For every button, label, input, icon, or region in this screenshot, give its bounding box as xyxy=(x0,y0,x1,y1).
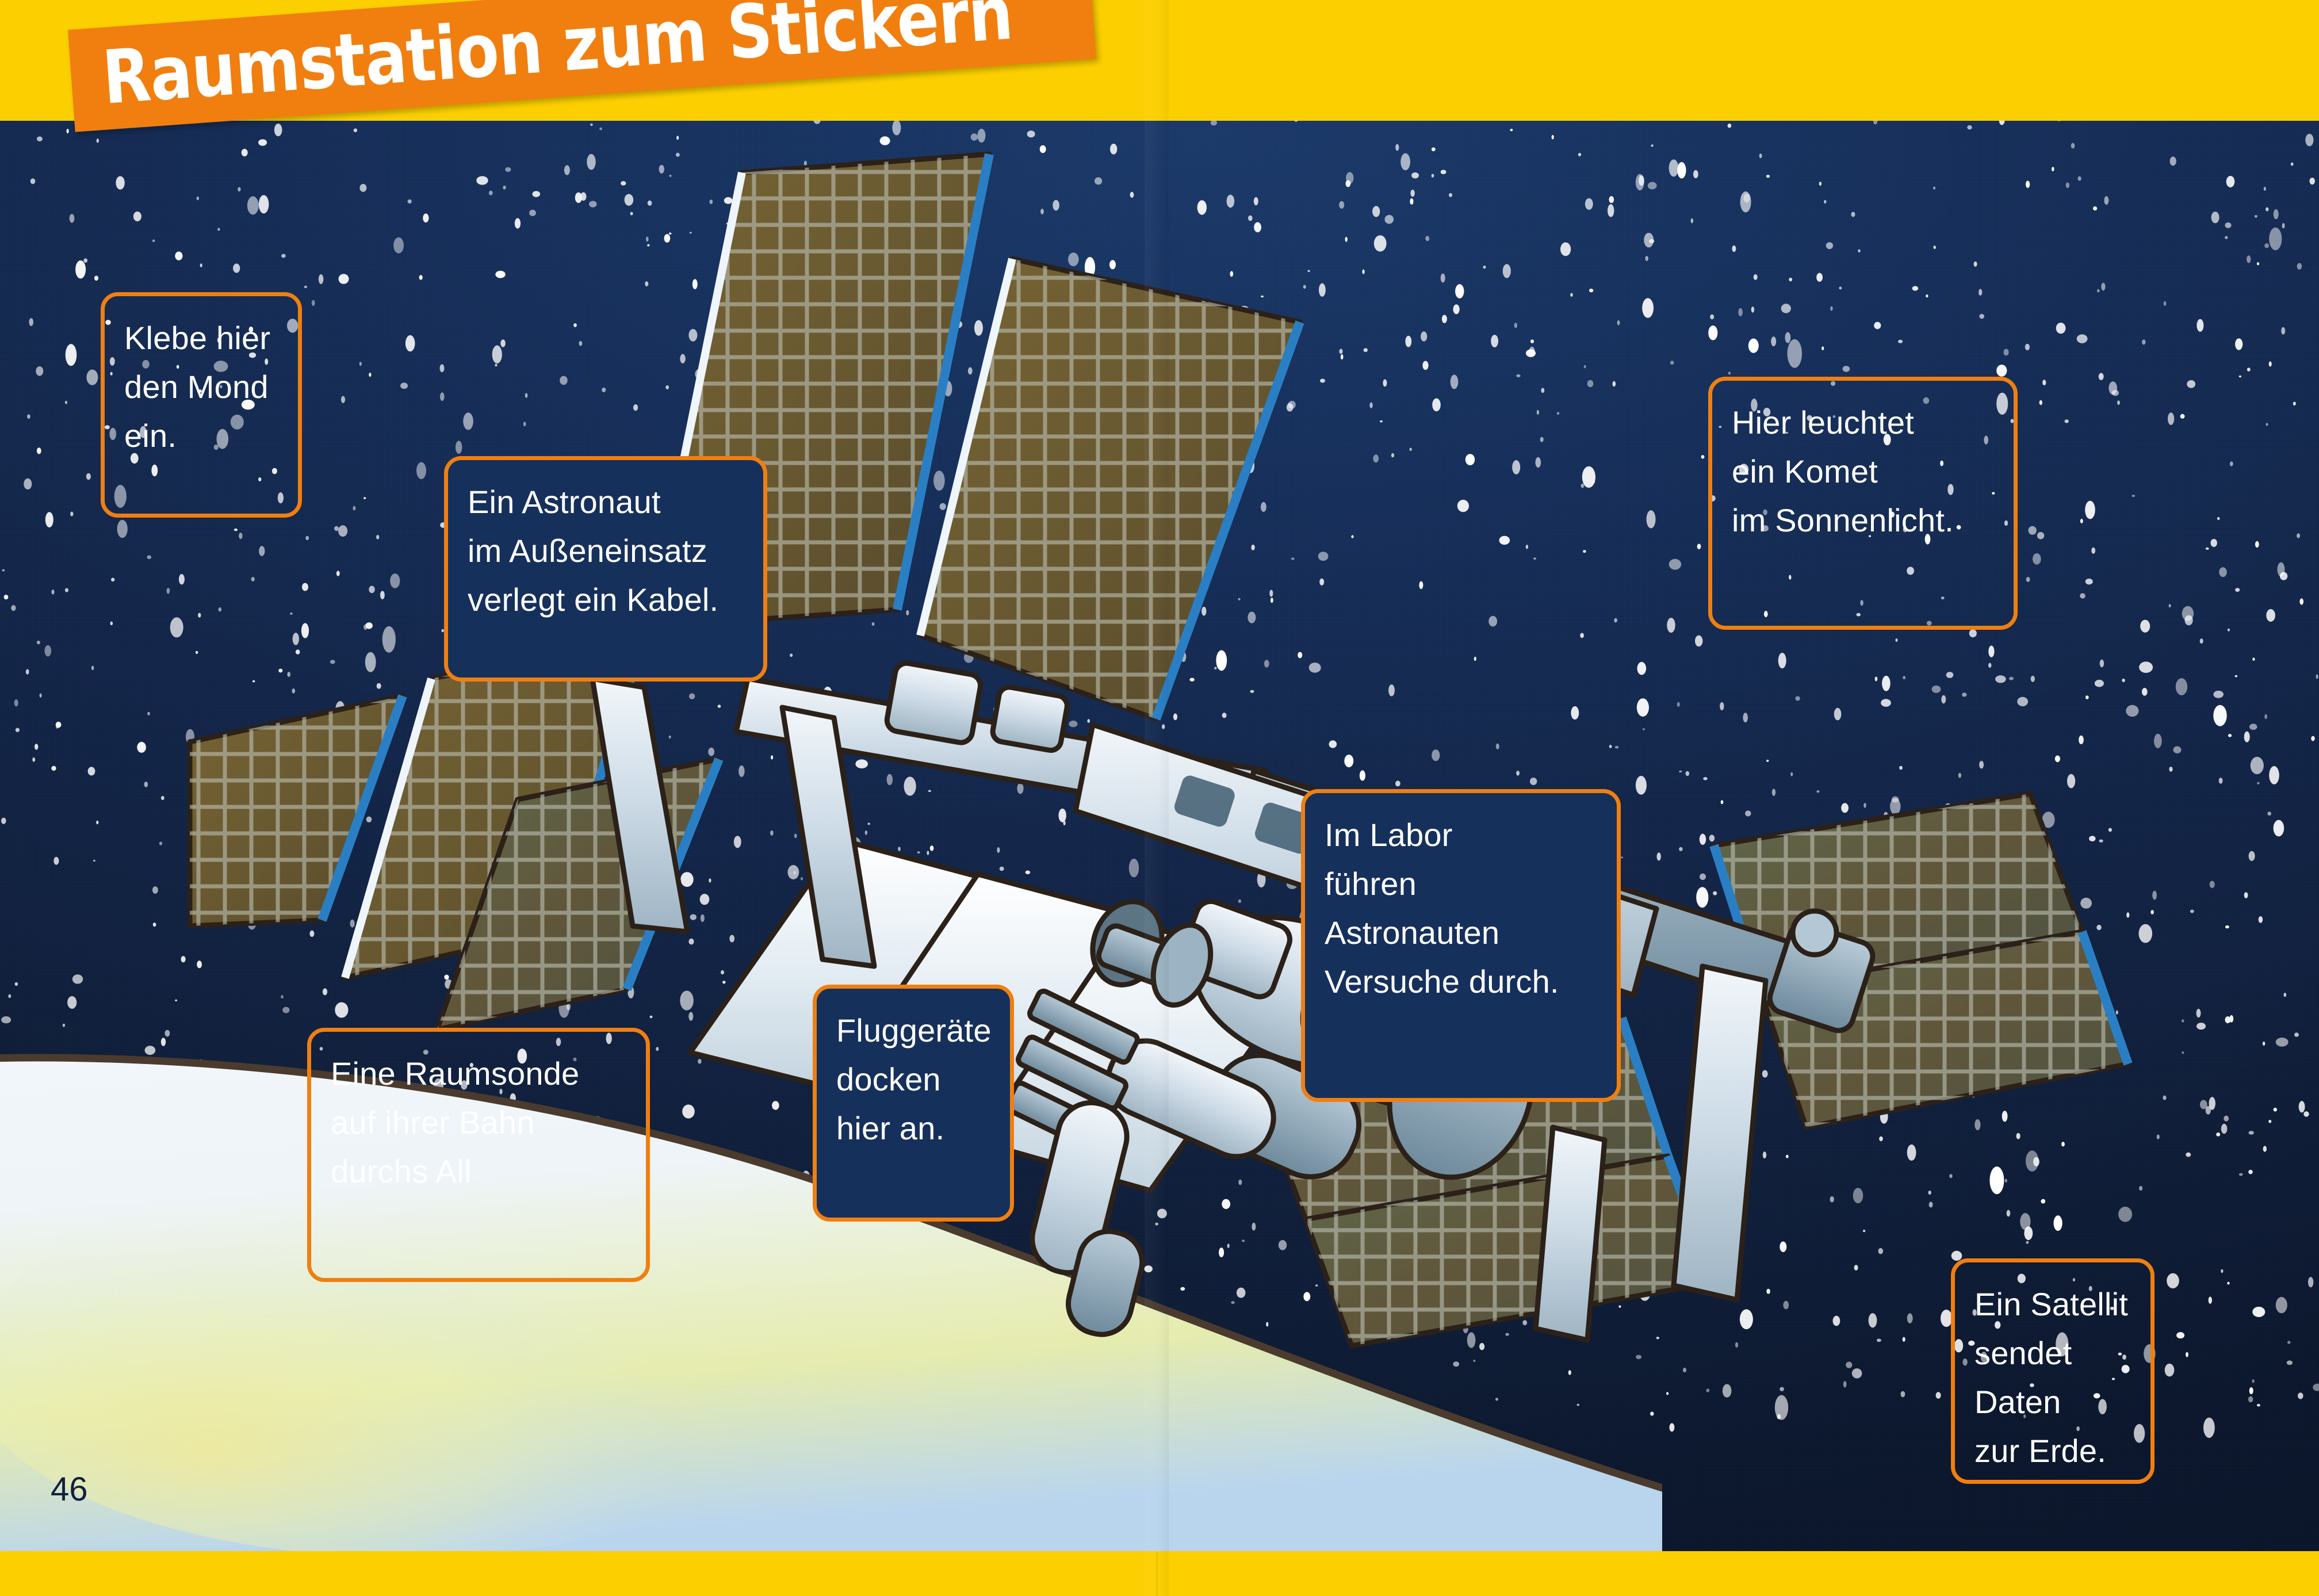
callout-line: ein Komet xyxy=(1732,447,1994,496)
book-spread-page: Raumstation zum Stickern Klebe hierden M… xyxy=(0,0,2319,1596)
callout-line: zur Erde. xyxy=(1974,1426,2131,1475)
callout-moon[interactable]: Klebe hierden Mondein. xyxy=(101,292,302,518)
callout-line: hier an. xyxy=(836,1104,990,1153)
callout-line: Eine Raumsonde xyxy=(331,1049,626,1098)
callout-probe[interactable]: Eine Raumsondeauf ihrer Bahndurchs All xyxy=(307,1028,650,1282)
callout-line: Klebe hier xyxy=(124,313,278,362)
callout-line: den Mond xyxy=(124,362,278,411)
callout-line: Versuche durch. xyxy=(1325,957,1597,1006)
callout-line: Ein Astronaut xyxy=(468,477,744,526)
callout-line: im Außeneinsatz xyxy=(468,526,744,575)
callout-line: im Sonnenlicht. xyxy=(1732,496,1994,545)
callout-line: Astronauten xyxy=(1325,908,1597,957)
callout-line: Im Labor xyxy=(1325,810,1597,859)
callout-satellite[interactable]: Ein SatellitsendetDatenzur Erde. xyxy=(1951,1258,2155,1484)
callout-line: Daten xyxy=(1974,1377,2131,1426)
callout-line: durchs All xyxy=(331,1147,626,1196)
callout-laboratory[interactable]: Im LaborführenAstronautenVersuche durch. xyxy=(1301,789,1621,1102)
callout-line: führen xyxy=(1325,859,1597,908)
callout-line: auf ihrer Bahn xyxy=(331,1098,626,1147)
callout-line: sendet xyxy=(1974,1329,2131,1377)
callout-comet[interactable]: Hier leuchtetein Kometim Sonnenlicht. xyxy=(1708,377,2018,630)
callout-astronaut[interactable]: Ein Astronautim Außeneinsatzverlegt ein … xyxy=(444,456,767,682)
callout-line: Fluggeräte xyxy=(836,1006,990,1055)
bottom-band-seam xyxy=(1156,1551,1158,1596)
callout-line: ein. xyxy=(124,411,278,460)
callout-line: docken xyxy=(836,1055,990,1104)
callout-line: Hier leuchtet xyxy=(1732,398,1994,447)
bottom-yellow-band xyxy=(0,1551,2319,1596)
callout-docking[interactable]: Fluggerätedockenhier an. xyxy=(813,985,1014,1222)
callout-line: verlegt ein Kabel. xyxy=(468,575,744,624)
callout-line: Ein Satellit xyxy=(1974,1280,2131,1329)
page-number: 46 xyxy=(51,1470,88,1509)
